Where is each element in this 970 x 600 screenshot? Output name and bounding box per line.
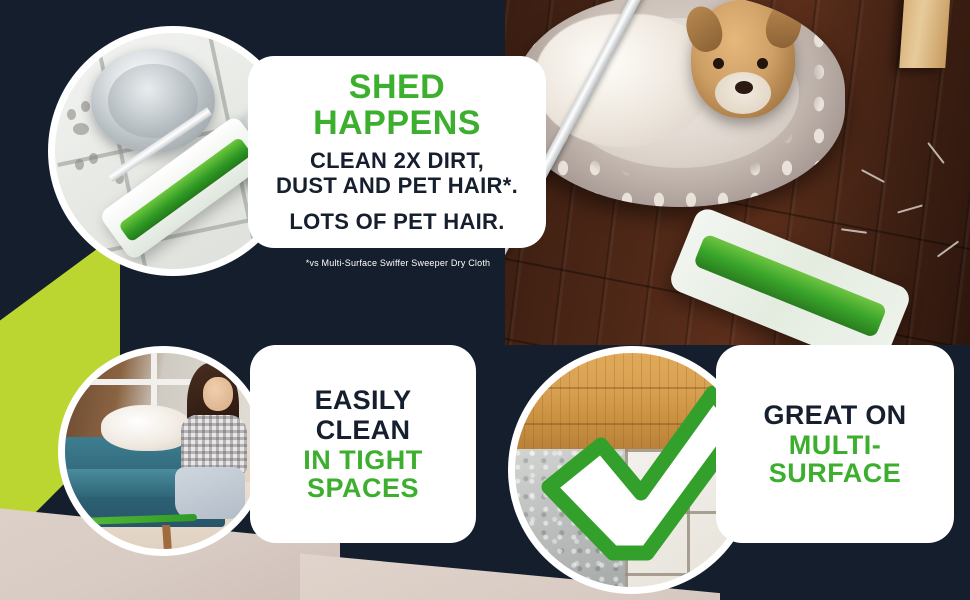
hero-photo-dog-in-bed xyxy=(505,0,970,345)
dog-eye-right xyxy=(757,58,768,69)
pet-bed xyxy=(515,0,845,207)
headline-line-1: SHED xyxy=(313,69,481,105)
subhead-line-3: LOTS OF PET HAIR. xyxy=(289,210,504,235)
headline-shed-happens: SHED HAPPENS xyxy=(313,69,481,141)
sofa-cushion xyxy=(58,469,185,497)
dog-eye-left xyxy=(713,58,724,69)
multi-surface-dark-line-1: GREAT ON xyxy=(764,400,907,430)
pet-hair-tuft xyxy=(897,204,923,213)
subhead-block: CLEAN 2X DIRT, DUST AND PET HAIR*. xyxy=(276,149,518,198)
sweeper-head xyxy=(667,205,913,345)
woman-jeans xyxy=(175,467,245,519)
woman-face xyxy=(203,377,233,411)
sofa-leg xyxy=(162,525,172,551)
sweeper-green-core xyxy=(693,233,887,338)
headline-line-2: HAPPENS xyxy=(313,105,481,141)
paw-print xyxy=(73,123,89,135)
circle-photo-cleaning-under-sofa xyxy=(58,346,268,556)
easily-clean-green-line-1: IN TIGHT xyxy=(303,446,423,475)
multi-surface-green-line-1: MULTI- xyxy=(789,431,881,460)
footnote-disclaimer: *vs Multi-Surface Swiffer Sweeper Dry Cl… xyxy=(248,258,548,268)
floor-plank-line xyxy=(505,330,970,345)
subhead-line-1: CLEAN 2X DIRT, xyxy=(276,149,518,174)
paw-print xyxy=(89,153,98,164)
paw-print xyxy=(75,159,84,170)
pet-water-bowl xyxy=(91,49,215,153)
dog-head xyxy=(691,0,795,118)
shelf-divider xyxy=(151,353,157,413)
furniture-leg xyxy=(899,0,950,68)
easily-clean-dark-line-1: EASILY xyxy=(315,385,412,415)
easily-clean-dark-line-2: CLEAN xyxy=(316,415,411,445)
dog-nose xyxy=(735,81,753,94)
card-shed-happens: SHED HAPPENS CLEAN 2X DIRT, DUST AND PET… xyxy=(248,56,546,248)
paw-print xyxy=(81,101,90,112)
woman-cleaning xyxy=(169,363,255,523)
swiffer-product-banner: SHED HAPPENS CLEAN 2X DIRT, DUST AND PET… xyxy=(0,0,970,600)
pet-hair-tuft xyxy=(861,169,885,183)
pet-hair-tuft xyxy=(927,142,945,164)
paw-print xyxy=(67,109,76,120)
card-great-on-multi-surface: GREAT ON MULTI- SURFACE xyxy=(716,345,954,543)
multi-surface-green-line-2: SURFACE xyxy=(769,459,902,488)
easily-clean-green-line-2: SPACES xyxy=(307,474,419,503)
woman-shirt xyxy=(181,415,247,475)
subhead-line-2: DUST AND PET HAIR*. xyxy=(276,174,518,199)
card-easily-clean: EASILY CLEAN IN TIGHT SPACES xyxy=(250,345,476,543)
